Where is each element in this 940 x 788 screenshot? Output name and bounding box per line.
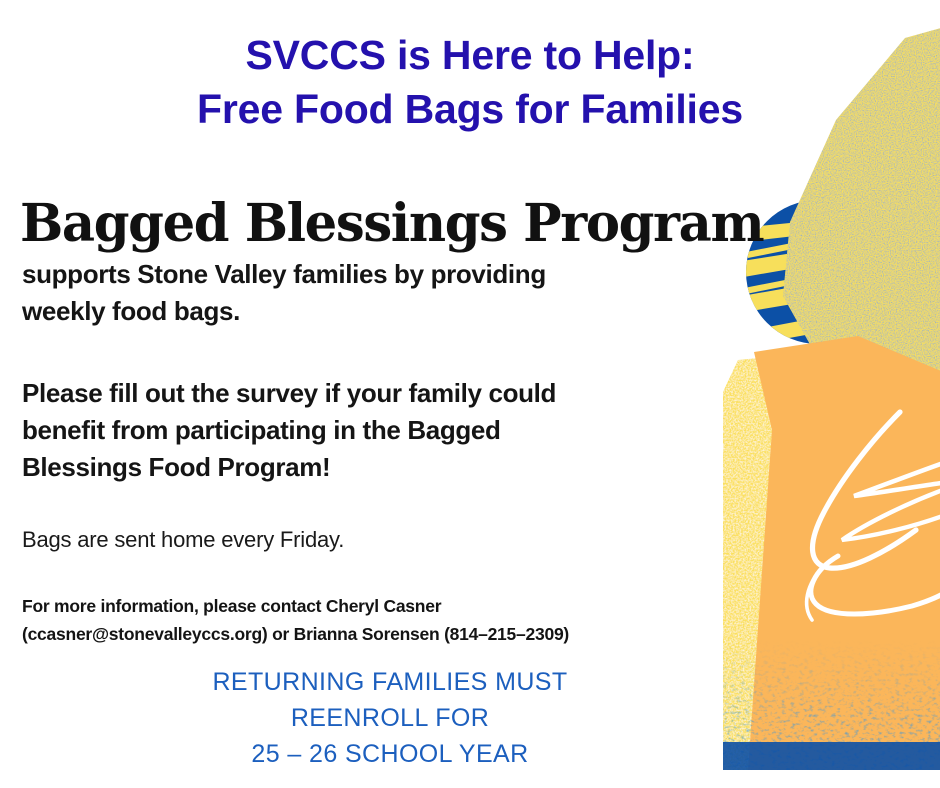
survey-line-3: Blessings Food Program! <box>22 449 682 486</box>
flyer-canvas: SVCCS is Here to Help: Free Food Bags fo… <box>0 0 940 788</box>
survey-call-to-action: Please fill out the survey if your famil… <box>22 375 682 486</box>
contact-line-1: For more information, please contact Che… <box>22 592 702 620</box>
reenroll-line-2: REENROLL FOR <box>70 700 710 736</box>
survey-line-2: benefit from participating in the Bagged <box>22 412 682 449</box>
reenroll-notice: RETURNING FAMILIES MUST REENROLL FOR 25 … <box>70 664 710 772</box>
program-name-heading: Bagged Blessings Program <box>20 197 798 250</box>
yellow-bag-edge <box>723 352 818 770</box>
reenroll-line-1: RETURNING FAMILIES MUST <box>70 664 710 700</box>
white-scribble-loop <box>807 412 940 620</box>
program-description-line-1: supports Stone Valley families by provid… <box>22 256 702 293</box>
headline-line-1: SVCCS is Here to Help: <box>0 28 940 82</box>
program-description-line-2: weekly food bags. <box>22 293 702 330</box>
contact-line-2: (ccasner@stonevalleyccs.org) or Brianna … <box>22 620 702 648</box>
contact-info: For more information, please contact Che… <box>22 592 702 649</box>
survey-line-1: Please fill out the survey if your famil… <box>22 375 682 412</box>
orange-bag-shape <box>748 336 940 770</box>
schedule-note: Bags are sent home every Friday. <box>22 527 344 553</box>
page-title: SVCCS is Here to Help: Free Food Bags fo… <box>0 28 940 136</box>
reenroll-line-3: 25 – 26 SCHOOL YEAR <box>70 736 710 772</box>
blue-speckle-texture <box>700 640 940 774</box>
headline-line-2: Free Food Bags for Families <box>0 82 940 136</box>
program-description: supports Stone Valley families by provid… <box>22 256 702 330</box>
